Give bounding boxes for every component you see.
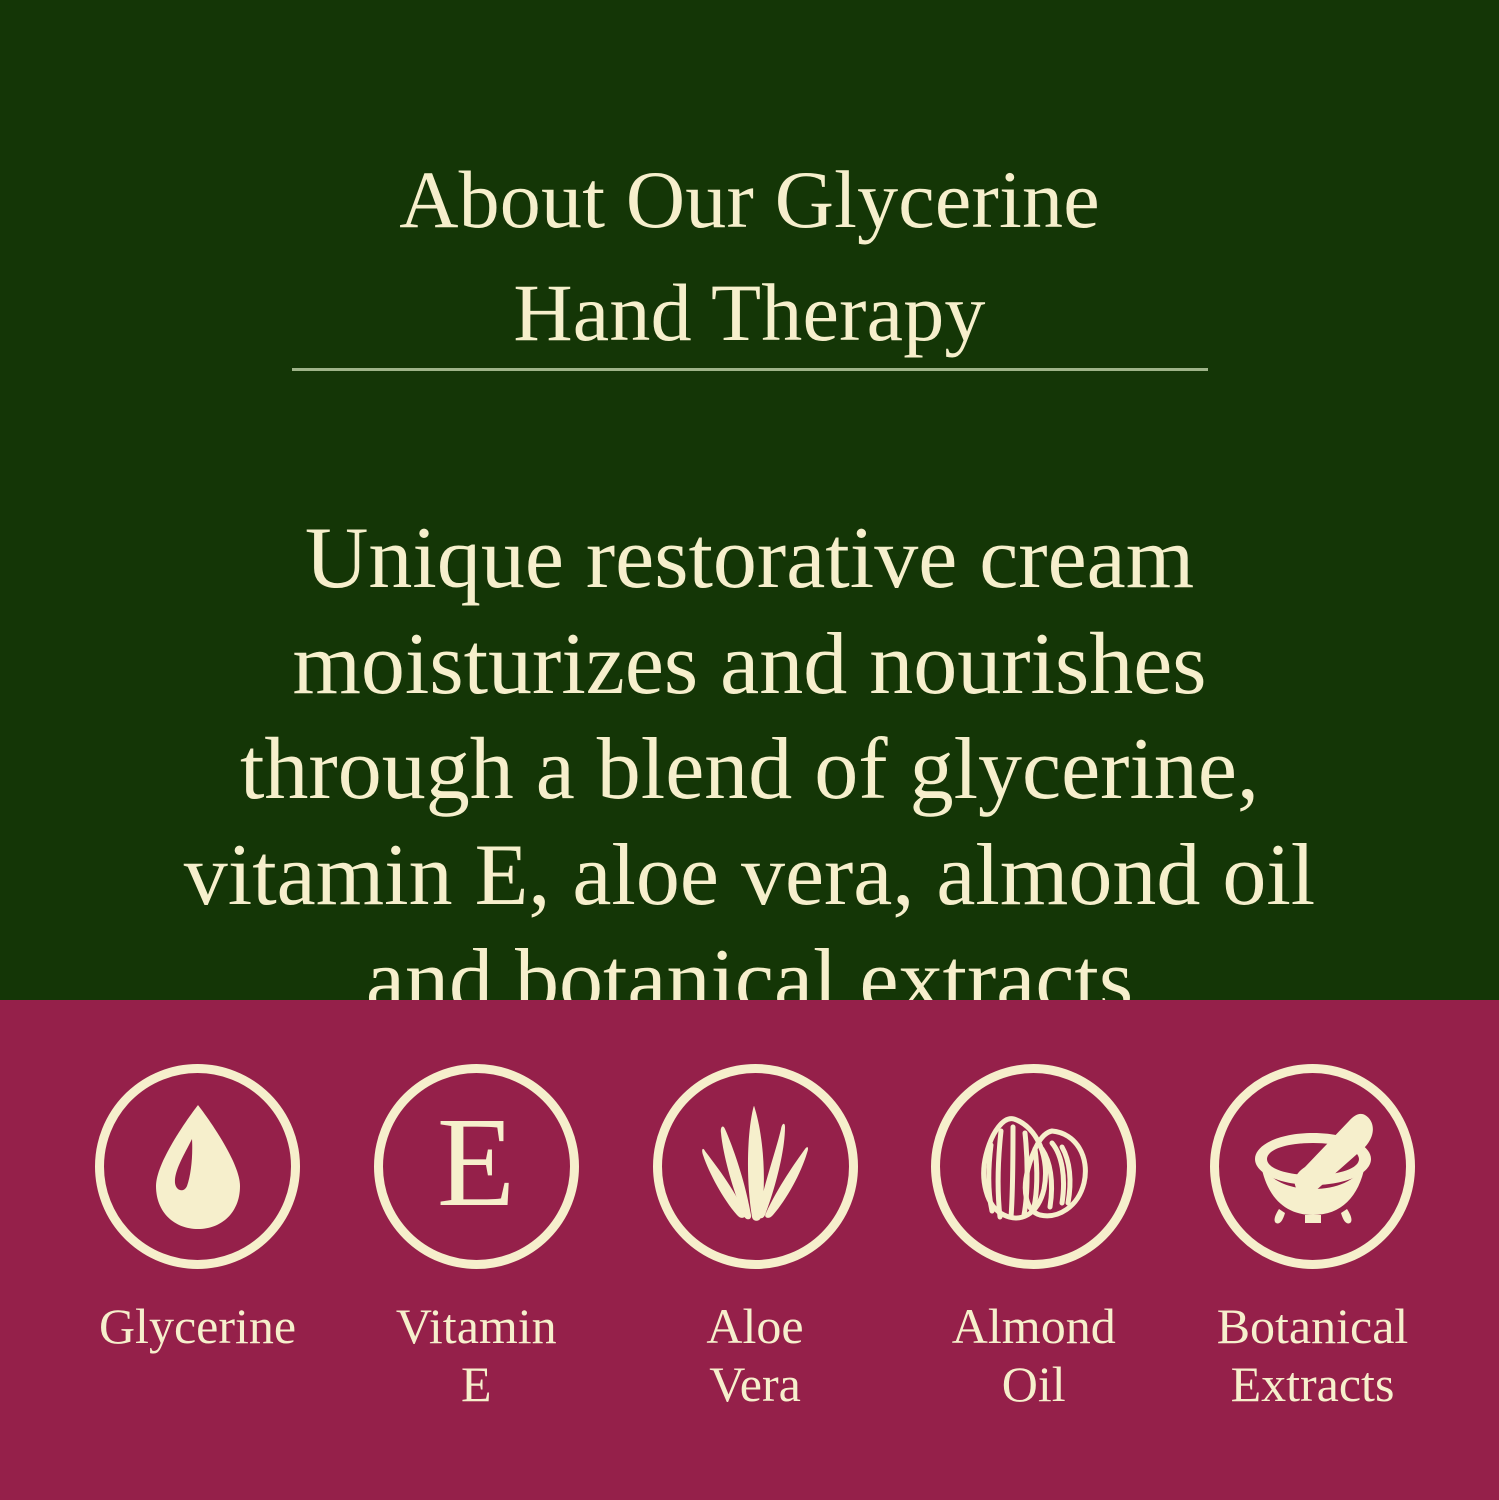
horizontal-divider xyxy=(292,368,1208,371)
ingredient-label-aloe-vera: Aloe Vera xyxy=(706,1297,803,1413)
page-title-line-1: About Our Glycerine xyxy=(0,143,1499,256)
ingredient-label-glycerine: Glycerine xyxy=(99,1297,296,1355)
description-line-1: Unique restorative cream xyxy=(0,506,1499,612)
mortar-pestle-icon xyxy=(1210,1064,1415,1269)
ingredient-item-glycerine[interactable]: Glycerine xyxy=(90,1064,305,1355)
description-line-3: through a blend of glycerine, xyxy=(0,717,1499,823)
aloe-plant-icon xyxy=(653,1064,858,1269)
ingredient-item-aloe-vera[interactable]: Aloe Vera xyxy=(648,1064,863,1413)
description-line-4: vitamin E, aloe vera, almond oil xyxy=(0,823,1499,929)
product-description: Unique restorative cream moisturizes and… xyxy=(0,506,1499,1034)
ingredient-label-almond-oil: Almond Oil xyxy=(952,1297,1116,1413)
ingredient-label-vitamin-e: Vitamin E xyxy=(396,1297,557,1413)
letter-e-icon: E xyxy=(374,1064,579,1269)
letter-e-glyph: E xyxy=(437,1101,515,1233)
ingredient-item-botanical-extracts[interactable]: Botanical Extracts xyxy=(1205,1064,1420,1413)
page-title-line-2: Hand Therapy xyxy=(0,256,1499,369)
water-droplet-icon xyxy=(95,1064,300,1269)
ingredients-section: Glycerine E Vitamin E xyxy=(0,1000,1499,1500)
almond-nuts-icon xyxy=(931,1064,1136,1269)
page-title: About Our Glycerine Hand Therapy xyxy=(0,143,1499,369)
product-info-graphic: About Our Glycerine Hand Therapy Unique … xyxy=(0,0,1499,1500)
ingredient-list: Glycerine E Vitamin E xyxy=(90,1064,1420,1413)
ingredient-item-vitamin-e[interactable]: E Vitamin E xyxy=(369,1064,584,1413)
divider-wrapper xyxy=(0,360,1499,378)
about-section: About Our Glycerine Hand Therapy Unique … xyxy=(0,0,1499,1000)
ingredient-item-almond-oil[interactable]: Almond Oil xyxy=(926,1064,1141,1413)
ingredient-label-botanical-extracts: Botanical Extracts xyxy=(1217,1297,1409,1413)
description-line-2: moisturizes and nourishes xyxy=(0,612,1499,718)
